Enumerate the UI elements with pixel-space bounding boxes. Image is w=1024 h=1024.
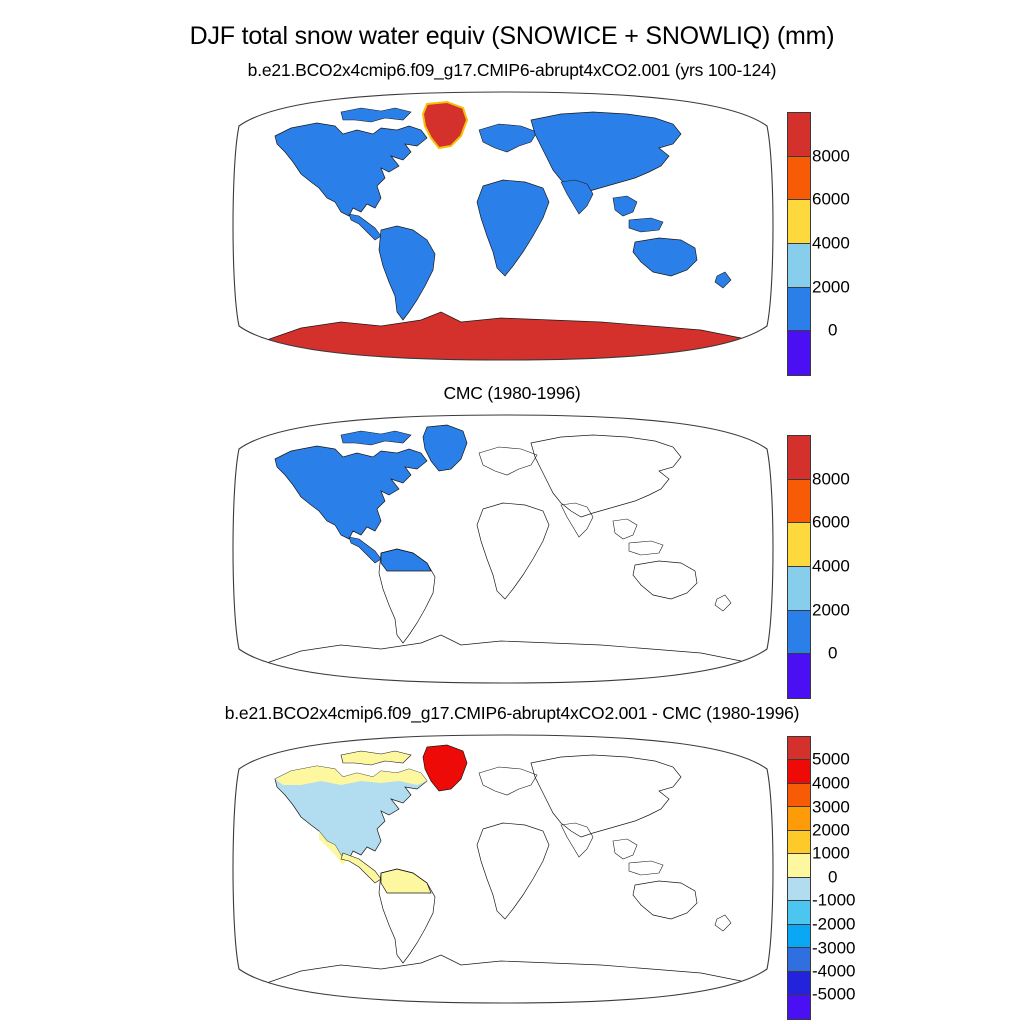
colorbar-band-deep-blue: [788, 972, 810, 995]
colorbar-band-dark-red: [788, 737, 810, 760]
colorbar-band-pale-blue: [788, 878, 810, 901]
colorbar-band-blue: [788, 611, 810, 655]
region-southeast-asia: [613, 519, 663, 555]
region-new-zealand: [715, 915, 731, 931]
colorbar-tick-minus-5000: -5000: [812, 986, 908, 1003]
map-observations: [231, 413, 775, 685]
map-svg-model: [231, 90, 775, 362]
colorbar-tick-4000: 4000: [812, 774, 908, 791]
region-asia: [531, 112, 681, 194]
region-north-america: [275, 123, 427, 216]
region-southeast-asia: [613, 839, 663, 875]
region-northern-south-america: [381, 869, 431, 893]
map-svg-difference: [231, 733, 775, 1005]
colorbar-tick-minus-2000: -2000: [812, 915, 908, 932]
colorbar-band-orange-red: [788, 784, 810, 807]
colorbar-tick-2000: 2000: [812, 278, 908, 295]
colorbar-band-red: [788, 436, 810, 480]
colorbar-tick-0: 0: [812, 322, 924, 339]
region-south-asia: [561, 823, 593, 857]
colorbar-band-violet: [788, 654, 810, 698]
colorbar-band-light-blue: [788, 244, 810, 288]
colorbar-band-red: [788, 113, 810, 157]
region-greenland: [423, 745, 467, 791]
region-canadian-arctic: [341, 751, 411, 765]
colorbar-band-pale-yellow: [788, 854, 810, 877]
region-africa: [477, 503, 549, 599]
colorbar-band-bright-blue: [788, 925, 810, 948]
region-northern-south-america: [381, 549, 431, 571]
colorbar-band-blue: [788, 288, 810, 332]
colorbar-labels-observations: 8000 6000 4000 2000 0: [812, 435, 908, 697]
region-south-america: [379, 226, 435, 320]
colorbar-band-orange: [788, 480, 810, 524]
colorbar-band-red: [788, 760, 810, 783]
panel-difference: b.e21.BCO2x4cmip6.f09_g17.CMIP6-abrupt4x…: [0, 703, 1024, 1024]
colorbar-band-gold: [788, 831, 810, 854]
colorbar-tick-5000: 5000: [812, 751, 908, 768]
region-south-asia: [561, 503, 593, 537]
colorbar-tick-minus-3000: -3000: [812, 939, 908, 956]
region-africa: [477, 180, 549, 276]
map-land-difference: [261, 745, 751, 1005]
colorbar-tick-8000: 8000: [812, 147, 908, 164]
panel-title-observations: CMC (1980-1996): [0, 383, 1024, 404]
colorbar-tick-2000: 2000: [812, 601, 908, 618]
region-antarctica: [261, 635, 751, 685]
colorbar-labels-difference: 5000 4000 3000 2000 1000 0 -1000 -2000 -…: [812, 736, 908, 1018]
colorbar-difference[interactable]: [787, 736, 811, 1020]
region-australia: [633, 238, 697, 276]
panel-model: b.e21.BCO2x4cmip6.f09_g17.CMIP6-abrupt4x…: [0, 60, 1024, 390]
colorbar-band-orange: [788, 157, 810, 201]
colorbar-tick-2000: 2000: [812, 821, 908, 838]
region-northern-canada: [275, 766, 427, 785]
region-europe: [479, 447, 537, 475]
colorbar-observations[interactable]: [787, 435, 811, 699]
colorbar-tick-6000: 6000: [812, 191, 908, 208]
colorbar-band-yellow: [788, 200, 810, 244]
region-canadian-arctic: [341, 108, 411, 122]
region-central-america: [341, 853, 381, 883]
region-africa: [477, 823, 549, 919]
region-canadian-arctic: [341, 431, 411, 445]
region-australia: [633, 561, 697, 599]
colorbar-tick-4000: 4000: [812, 558, 908, 575]
map-land-observations: [261, 425, 751, 685]
colorbar-labels-model: 8000 6000 4000 2000 0: [812, 112, 908, 374]
colorbar-tick-1000: 1000: [812, 845, 908, 862]
map-model: [231, 90, 775, 362]
colorbar-tick-0: 0: [812, 645, 924, 662]
colorbar-tick-0: 0: [812, 869, 924, 886]
colorbar-tick-minus-4000: -4000: [812, 962, 908, 979]
map-land-model: [261, 102, 751, 362]
colorbar-band-violet: [788, 331, 810, 375]
region-north-america: [275, 446, 427, 539]
region-greenland: [423, 102, 467, 148]
colorbar-tick-6000: 6000: [812, 514, 908, 531]
colorbar-tick-4000: 4000: [812, 235, 908, 252]
region-new-zealand: [715, 272, 731, 288]
region-central-america: [349, 214, 381, 240]
colorbar-tick-3000: 3000: [812, 798, 908, 815]
colorbar-model[interactable]: [787, 112, 811, 376]
region-southeast-asia: [613, 196, 663, 232]
map-svg-observations: [231, 413, 775, 685]
region-australia: [633, 881, 697, 919]
colorbar-band-blue: [788, 948, 810, 971]
region-asia: [531, 435, 681, 517]
colorbar-band-violet: [788, 995, 810, 1019]
colorbar-band-yellow: [788, 523, 810, 567]
region-greenland: [423, 425, 467, 471]
panel-title-model: b.e21.BCO2x4cmip6.f09_g17.CMIP6-abrupt4x…: [0, 60, 1024, 81]
region-europe: [479, 124, 537, 152]
region-asia: [531, 755, 681, 837]
colorbar-band-cyan: [788, 901, 810, 924]
region-new-zealand: [715, 595, 731, 611]
colorbar-band-light-blue: [788, 567, 810, 611]
region-europe: [479, 767, 537, 795]
panel-title-difference: b.e21.BCO2x4cmip6.f09_g17.CMIP6-abrupt4x…: [0, 703, 1024, 724]
region-antarctica: [261, 955, 751, 1005]
panel-observations: CMC (1980-1996): [0, 383, 1024, 713]
map-difference: [231, 733, 775, 1005]
region-antarctica: [261, 312, 751, 362]
colorbar-tick-8000: 8000: [812, 470, 908, 487]
colorbar-band-orange: [788, 807, 810, 830]
figure-root: DJF total snow water equiv (SNOWICE + SN…: [0, 0, 1024, 1024]
region-central-america: [349, 537, 381, 563]
figure-title: DJF total snow water equiv (SNOWICE + SN…: [0, 22, 1024, 51]
colorbar-tick-minus-1000: -1000: [812, 892, 908, 909]
